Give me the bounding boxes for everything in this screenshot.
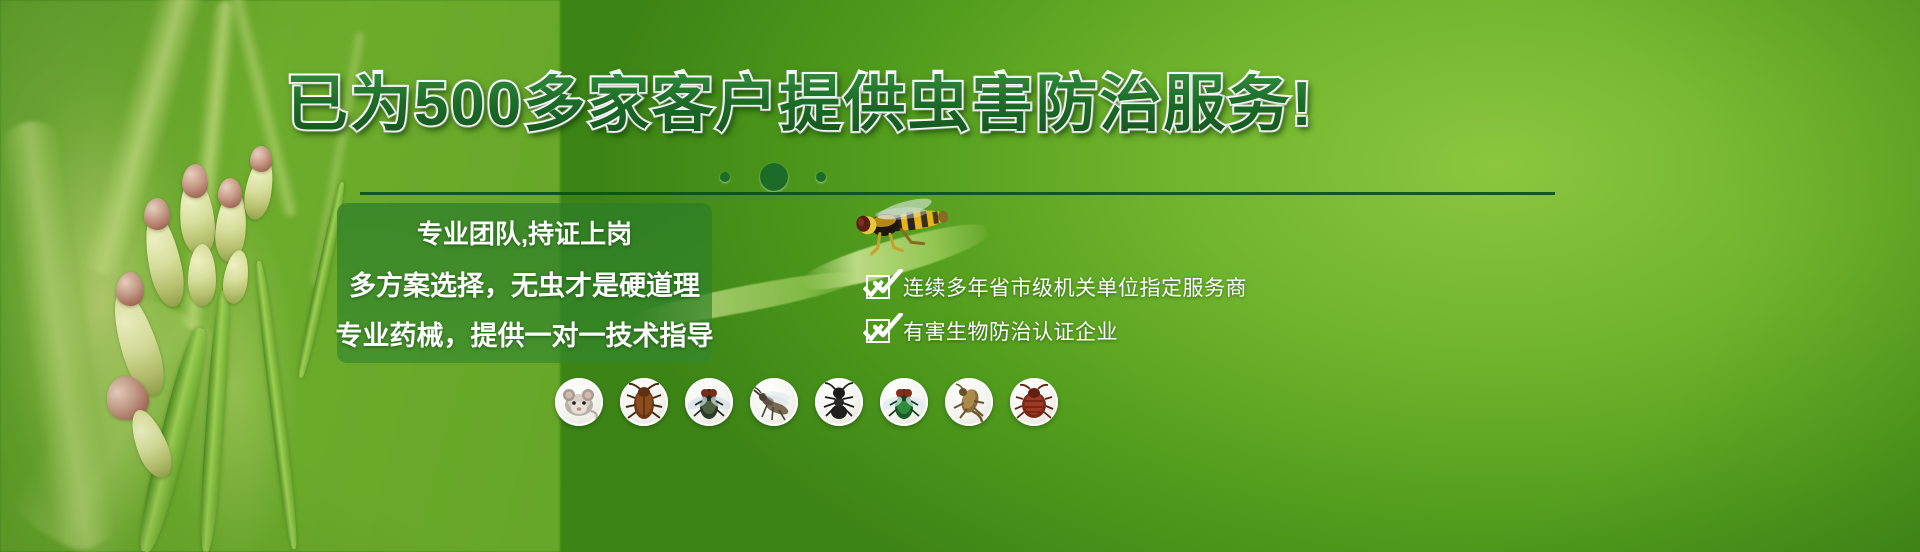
horizontal-divider bbox=[360, 192, 1555, 195]
feature-highlight-box: 专业团队,持证上岗 多方案选择，无虫才是硬道理 专业药械，提供一对一技术指导 bbox=[337, 203, 712, 363]
list-item: 连续多年省市级机关单位指定服务商 bbox=[866, 272, 1346, 302]
cockroach-icon[interactable] bbox=[620, 378, 668, 426]
housefly-icon[interactable] bbox=[685, 378, 733, 426]
checkbox-checked-icon bbox=[866, 319, 890, 343]
mouse-icon[interactable] bbox=[555, 378, 603, 426]
pest-type-icon-row bbox=[555, 378, 1058, 426]
feature-line-2: 多方案选择，无虫才是硬道理 bbox=[349, 264, 700, 303]
bedbug-icon[interactable] bbox=[1010, 378, 1058, 426]
feature-line-3: 专业药械，提供一对一技术指导 bbox=[336, 314, 714, 353]
decorative-dots bbox=[700, 160, 900, 194]
page-title: 已为500多家客户提供虫害防治服务! bbox=[0, 74, 1600, 136]
mosquito-icon[interactable] bbox=[750, 378, 798, 426]
certification-list: 连续多年省市级机关单位指定服务商 有害生物防治认证企业 bbox=[866, 272, 1346, 360]
pest-control-promo-banner: 已为500多家客户提供虫害防治服务! 已为500多家客户提供虫害防治服务! 专业… bbox=[0, 0, 1920, 552]
greenbottle-fly-icon[interactable] bbox=[880, 378, 928, 426]
certification-label: 有害生物防治认证企业 bbox=[903, 316, 1118, 346]
small-dot-icon bbox=[816, 172, 826, 182]
ant-icon[interactable] bbox=[815, 378, 863, 426]
large-dot-icon bbox=[760, 163, 788, 191]
small-dot-icon bbox=[720, 172, 730, 182]
check-tick-icon bbox=[873, 313, 903, 339]
checkbox-checked-icon bbox=[866, 275, 890, 299]
list-item: 有害生物防治认证企业 bbox=[866, 316, 1346, 346]
flea-icon[interactable] bbox=[945, 378, 993, 426]
certification-label: 连续多年省市级机关单位指定服务商 bbox=[903, 272, 1247, 302]
feature-line-1: 专业团队,持证上岗 bbox=[417, 214, 632, 251]
hoverfly-photo bbox=[845, 196, 965, 256]
check-tick-icon bbox=[873, 269, 903, 295]
